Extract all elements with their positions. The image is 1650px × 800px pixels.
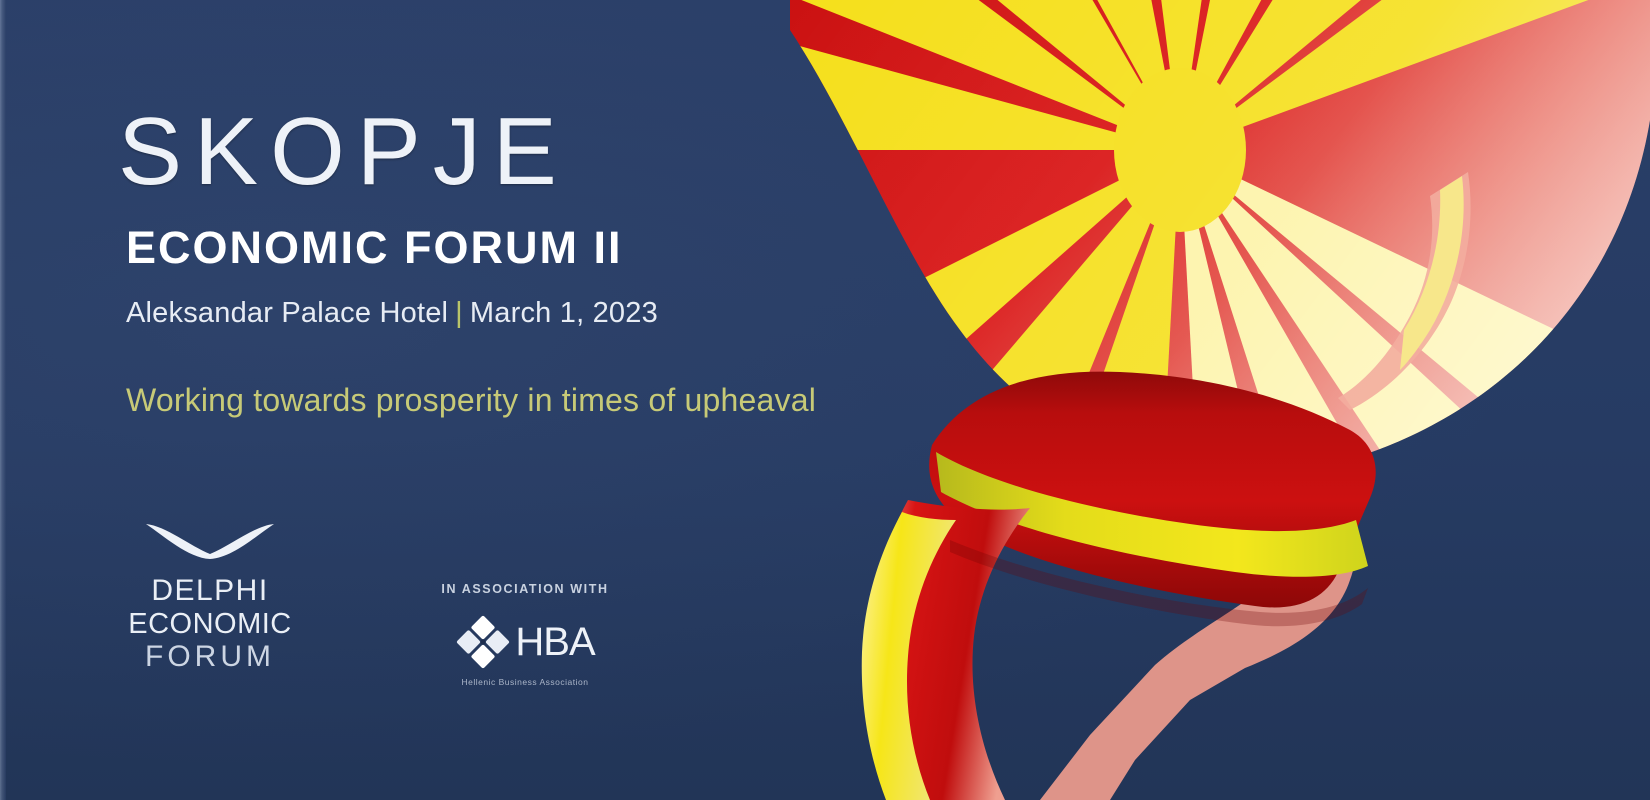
- venue-date-separator: |: [448, 297, 470, 329]
- delphi-logo-line1: DELPHI: [120, 574, 300, 608]
- hba-subtitle: Hellenic Business Association: [410, 677, 640, 687]
- event-date: March 1, 2023: [470, 297, 658, 329]
- logo-row: DELPHI ECONOMIC FORUM IN ASSOCIATION WIT…: [120, 520, 640, 687]
- venue-and-date: Aleksandar Palace Hotel|March 1, 2023: [126, 297, 1038, 330]
- hba-diamond-icon: [455, 614, 511, 670]
- left-edge-strip: [0, 0, 6, 800]
- association-logo-block: IN ASSOCIATION WITH HBA Hellenic Busines…: [410, 520, 640, 687]
- headline-block: SKOPJE ECONOMIC FORUM II Aleksandar Pala…: [118, 104, 1038, 419]
- delphi-swoosh-icon: [144, 520, 276, 560]
- event-tagline: Working towards prosperity in times of u…: [126, 382, 1038, 419]
- hba-wordmark: HBA: [515, 622, 594, 662]
- hba-lockup: HBA: [410, 614, 640, 670]
- venue-name: Aleksandar Palace Hotel: [126, 297, 448, 329]
- delphi-economic-forum-logo: DELPHI ECONOMIC FORUM: [120, 520, 300, 674]
- page-title: SKOPJE: [118, 104, 1038, 200]
- event-subtitle: ECONOMIC FORUM II: [126, 224, 1038, 271]
- delphi-logo-line3: FORUM: [120, 640, 300, 674]
- delphi-logo-line2: ECONOMIC: [120, 608, 300, 640]
- event-poster: SKOPJE ECONOMIC FORUM II Aleksandar Pala…: [0, 0, 1650, 800]
- association-label: IN ASSOCIATION WITH: [410, 582, 640, 596]
